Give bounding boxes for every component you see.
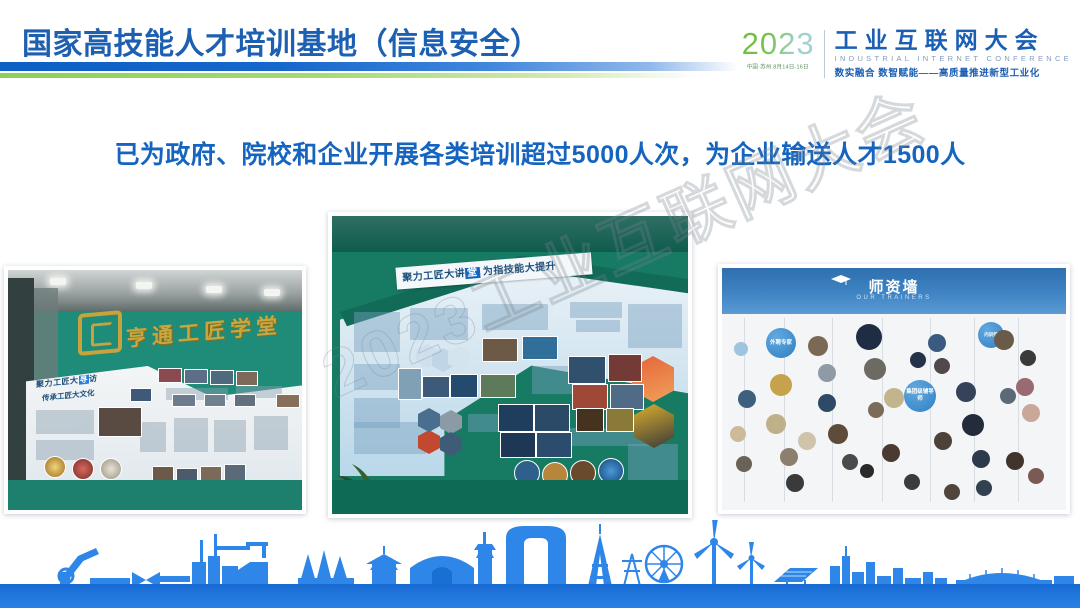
trainer-portrait: [904, 474, 920, 490]
mid-text-card: [576, 320, 620, 332]
trainer-wall-gridline: [974, 318, 975, 502]
photo-middle-lecture-hall: 聚力工匠大讲堂 为指技能大提升: [328, 212, 692, 518]
logo-english-title: INDUSTRIAL INTERNET CONFERENCE: [835, 54, 1072, 63]
photo-left-training-hall: 亨通工匠学堂 聚力工匠大寻访 传承工匠大文化: [4, 266, 306, 514]
award-seal-icon: [44, 456, 66, 478]
board-photo-thumb: [130, 388, 152, 402]
trainer-portrait: [962, 414, 984, 436]
mid-photo-thumb: [500, 432, 536, 458]
logo-year-subtitle: 中国·苏州 8月14日-16日: [747, 62, 809, 70]
mid-banner-b: 堂: [465, 267, 480, 279]
mid-text-card: [482, 304, 548, 330]
trainer-portrait: [808, 336, 828, 356]
logo-text-block: 工业互联网大会 INDUSTRIAL INTERNET CONFERENCE 数…: [825, 28, 1072, 79]
mid-photo-thumb: [610, 384, 644, 410]
trainer-portrait: [882, 444, 900, 462]
board-text-block: [36, 410, 94, 434]
graduation-cap-icon: [830, 274, 852, 286]
trainer-portrait: [884, 388, 904, 408]
mid-photo-thumb: [450, 374, 478, 398]
mid-photo-thumb: [480, 374, 516, 398]
mid-photo-thumb: [398, 368, 422, 400]
trainer-portrait: [1020, 350, 1036, 366]
board-photo-thumb: [98, 407, 142, 437]
slogan-part-b: 寻: [79, 375, 90, 385]
logo-year-block: 2023 中国·苏州 8月14日-16日: [742, 28, 824, 71]
bottom-photo-thumb: [224, 464, 246, 481]
gongjiang-emblem-icon: [78, 310, 122, 356]
mid-photo-thumb: [608, 354, 642, 382]
photo-left-content: 亨通工匠学堂 聚力工匠大寻访 传承工匠大文化: [8, 270, 302, 510]
mid-floor: [332, 480, 688, 514]
board-photo-thumb: [158, 368, 182, 383]
trainer-portrait: [786, 474, 804, 492]
conference-logo: 2023 中国·苏州 8月14日-16日 工业互联网大会 INDUSTRIAL …: [742, 28, 1072, 84]
slogan-part-c: 访: [89, 374, 98, 384]
board-text-block: [36, 440, 94, 460]
trainer-portrait: [868, 402, 884, 418]
mid-ceiling: [332, 216, 688, 252]
board-photo-thumb: [234, 394, 256, 407]
photo-right-trainer-wall: 师资墙 OUR TRAINERS 外聘专家 集团级辅导师 内训师: [718, 264, 1070, 514]
trainer-portrait: [780, 448, 798, 466]
trainer-portrait: [994, 330, 1014, 350]
footer-skyline-illustration: [0, 520, 1080, 586]
board-photo-thumb: [236, 371, 258, 386]
mid-text-card: [354, 364, 400, 390]
trainer-portrait: [864, 358, 886, 380]
header-divider-blue: [0, 62, 738, 71]
trainer-portrait: [736, 456, 752, 472]
trainer-portrait: [798, 432, 816, 450]
left-floor: [8, 480, 302, 510]
mid-text-card: [410, 308, 468, 340]
trainer-portrait: [770, 374, 792, 396]
mid-photo-thumb: [422, 376, 450, 398]
photo-right-content: 师资墙 OUR TRAINERS 外聘专家 集团级辅导师 内训师: [722, 268, 1066, 510]
trainer-portrait: [972, 450, 990, 468]
trainer-portrait: [1000, 388, 1016, 404]
mid-photo-thumb: [534, 404, 570, 432]
slide-root: 国家高技能人才培训基地（信息安全） 2023 中国·苏州 8月14日-16日 工…: [0, 0, 1080, 608]
trainer-portrait: [734, 342, 748, 356]
board-text-block: [254, 416, 288, 450]
mid-photo-thumb: [568, 356, 606, 384]
right-wall-title: 师资墙: [868, 276, 919, 297]
page-title: 国家高技能人才培训基地（信息安全）: [22, 19, 541, 63]
ceiling-lamp-icon: [50, 278, 66, 285]
ceiling-lamp-icon: [264, 289, 280, 296]
trainer-portrait: [928, 334, 946, 352]
board-photo-thumb: [184, 369, 208, 384]
mid-text-card: [570, 302, 622, 318]
mid-photo-thumb: [606, 408, 634, 432]
right-wall-subtitle: OUR TRAINERS: [856, 295, 931, 301]
mid-photo-thumb: [576, 408, 604, 432]
ceiling-lamp-icon: [206, 286, 222, 293]
logo-main-title: 工业互联网大会: [835, 28, 1072, 52]
logo-year: 2023: [742, 28, 815, 59]
trainer-portrait: [828, 424, 848, 444]
ceiling-lamp-icon: [136, 282, 152, 289]
mid-photo-thumb: [536, 432, 572, 458]
board-text-block: [140, 422, 166, 452]
slide-header: 国家高技能人才培训基地（信息安全） 2023 中国·苏州 8月14日-16日 工…: [0, 0, 1080, 92]
trainer-portrait: [738, 390, 756, 408]
trainer-portrait: [1028, 468, 1044, 484]
trainer-portrait: [910, 352, 926, 368]
trainer-portrait: [934, 432, 952, 450]
award-seal-icon: [100, 458, 122, 480]
mid-photo-thumb: [572, 384, 608, 410]
board-text-block: [174, 418, 208, 452]
trainer-portrait: [934, 358, 950, 374]
board-photo-thumb: [172, 394, 196, 407]
mid-text-card: [628, 304, 682, 348]
trainer-portrait: [766, 414, 786, 434]
board-photo-thumb: [276, 394, 300, 408]
award-seal-icon: [72, 458, 94, 480]
footer-blue-band: [0, 584, 1080, 608]
mid-photo-thumb: [522, 336, 558, 360]
headline-statement: 已为政府、院校和企业开展各类培训超过5000人次，为企业输送人才1500人: [0, 135, 1080, 171]
trainer-group-external: 外聘专家: [766, 328, 796, 358]
trainer-portrait: [730, 426, 746, 442]
photo-middle-content: 聚力工匠大讲堂 为指技能大提升: [332, 216, 688, 514]
board-photo-thumb: [210, 370, 234, 385]
trainer-portrait: [1016, 378, 1034, 396]
logo-tagline: 数实融合 数智赋能——高质量推进新型工业化: [835, 65, 1072, 79]
trainer-portrait: [842, 454, 858, 470]
trainer-portrait: [818, 364, 836, 382]
trainer-portrait: [976, 480, 992, 496]
trainer-portrait: [1006, 452, 1024, 470]
trainer-portrait: [860, 464, 874, 478]
header-divider-green: [0, 73, 700, 78]
trainer-portrait: [956, 382, 976, 402]
trainer-portrait: [944, 484, 960, 500]
board-photo-thumb: [204, 394, 226, 407]
trainer-portrait: [818, 394, 836, 412]
trainer-wall-gridline: [1018, 318, 1019, 502]
trainer-group-coach: 集团级辅导师: [904, 380, 936, 412]
trainer-portrait: [1022, 404, 1040, 422]
mid-photo-thumb: [498, 404, 534, 432]
trainer-portrait: [856, 324, 882, 350]
mid-text-card: [354, 312, 400, 352]
board-text-block: [214, 420, 246, 452]
mid-photo-thumb: [482, 338, 518, 362]
